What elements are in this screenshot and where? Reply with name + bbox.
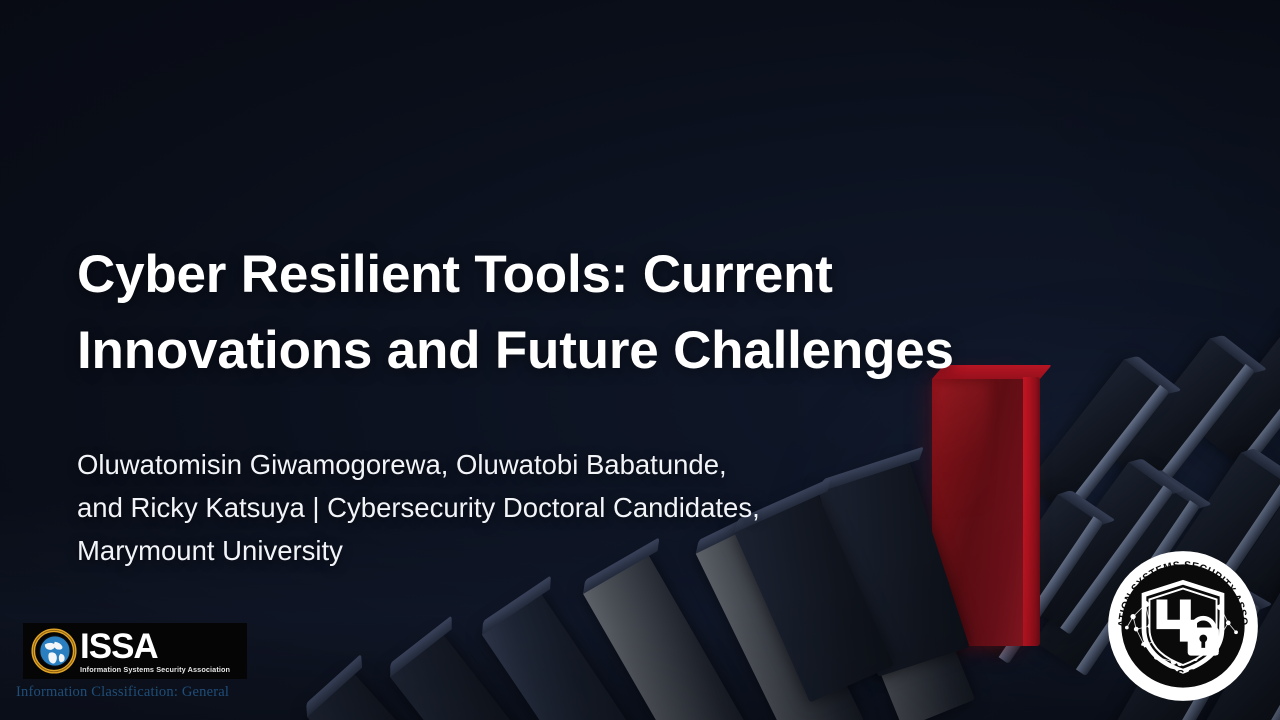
issa-tagline: Information Systems Security Association: [80, 666, 230, 673]
presentation-slide: Cyber Resilient Tools: Current Innovatio…: [0, 0, 1280, 720]
globe-icon: [31, 628, 77, 674]
slide-subtitle-authors: Oluwatomisin Giwamogorewa, Oluwatobi Bab…: [77, 444, 907, 573]
issa-wordmark: ISSA Information Systems Security Associ…: [80, 629, 230, 673]
classification-label: Information Classification: General: [16, 684, 229, 701]
issa-40-years-badge: INFORMATION SYSTEMS SECURITY ASSOCIATION…: [1105, 548, 1261, 704]
slide-title: Cyber Resilient Tools: Current Innovatio…: [77, 237, 1087, 390]
issa-logo: ISSA Information Systems Security Associ…: [23, 623, 247, 679]
issa-acronym: ISSA: [80, 629, 230, 664]
